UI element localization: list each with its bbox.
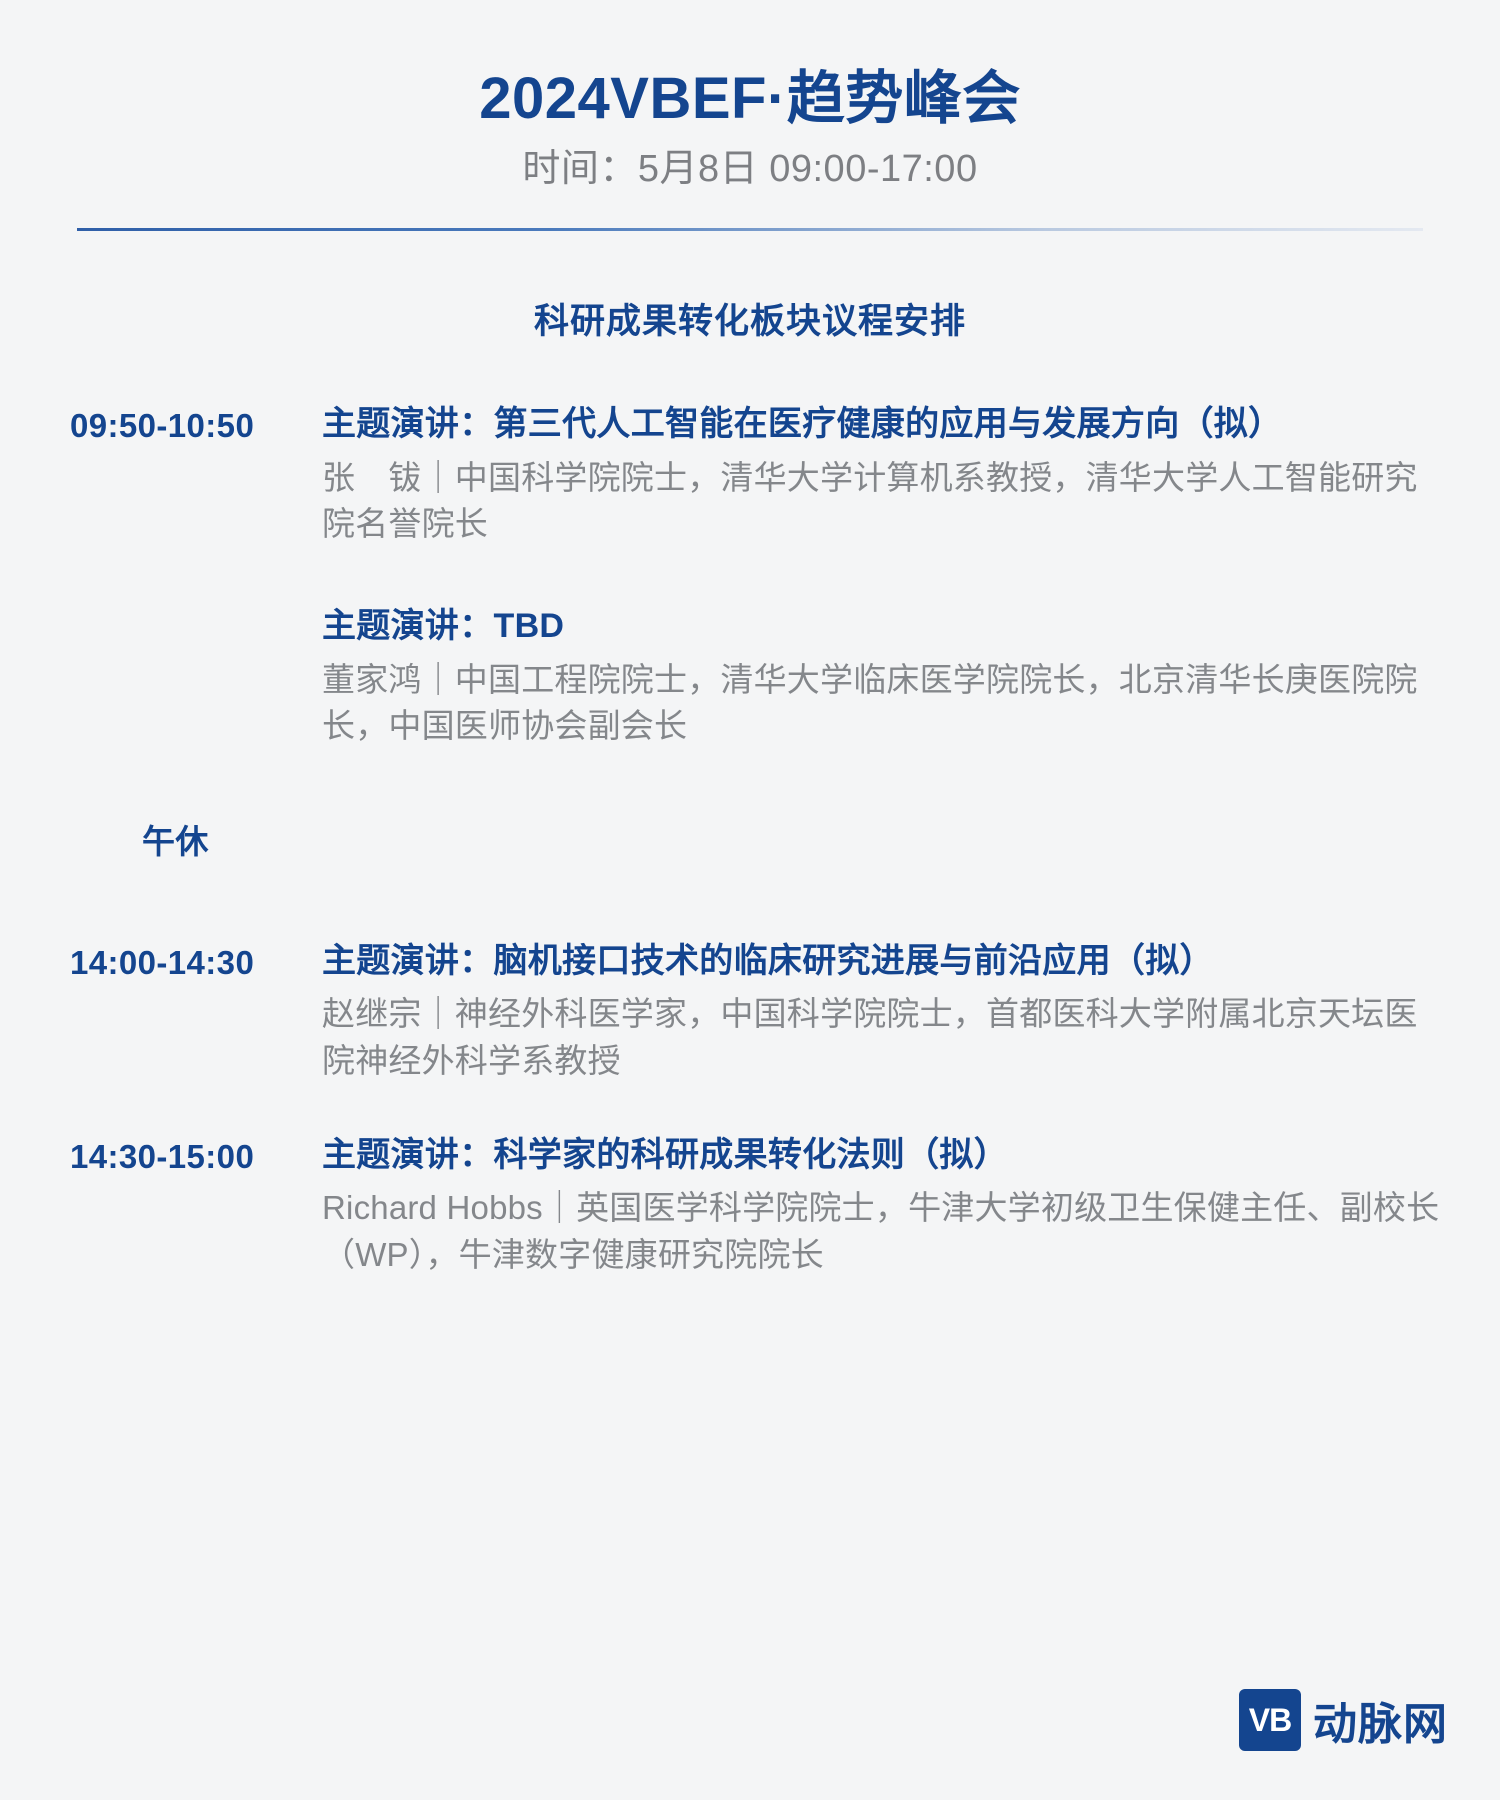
event-title: 2024VBEF·趋势峰会	[0, 66, 1500, 133]
vb-logo-icon: VB	[1239, 1689, 1301, 1751]
section-title: 科研成果转化板块议程安排	[0, 293, 1500, 344]
talk-item: 主题演讲：科学家的科研成果转化法则（拟） Richard Hobbs｜英国医学科…	[322, 1131, 1440, 1279]
agenda-time: 09:50-10:50	[70, 400, 322, 449]
talk-speaker: 赵继宗｜神经外科医学家，中国科学院院士，首都医科大学附属北京天坛医院神经外科学系…	[322, 991, 1440, 1085]
agenda-details: 主题演讲：第三代人工智能在医疗健康的应用与发展方向（拟） 张 钹｜中国科学院院士…	[322, 400, 1440, 750]
talk-item: 主题演讲：脑机接口技术的临床研究进展与前沿应用（拟） 赵继宗｜神经外科医学家，中…	[322, 937, 1440, 1085]
talk-title: 主题演讲：第三代人工智能在医疗健康的应用与发展方向（拟）	[322, 400, 1440, 448]
header-divider	[77, 228, 1423, 231]
talk-title: 主题演讲：TBD	[322, 602, 1440, 650]
brand-name: 动脉网	[1313, 1688, 1448, 1752]
agenda-row: 14:30-15:00 主题演讲：科学家的科研成果转化法则（拟） Richard…	[70, 1131, 1440, 1279]
talk-title: 主题演讲：科学家的科研成果转化法则（拟）	[322, 1131, 1440, 1179]
agenda-list: 09:50-10:50 主题演讲：第三代人工智能在医疗健康的应用与发展方向（拟）…	[0, 400, 1500, 1278]
agenda-row-break: 午休	[70, 816, 1440, 865]
talk-item: 主题演讲：第三代人工智能在医疗健康的应用与发展方向（拟） 张 钹｜中国科学院院士…	[322, 400, 1440, 548]
agenda-row: 14:00-14:30 主题演讲：脑机接口技术的临床研究进展与前沿应用（拟） 赵…	[70, 937, 1440, 1085]
talk-speaker: Richard Hobbs｜英国医学科学院院士，牛津大学初级卫生保健主任、副校长…	[322, 1185, 1440, 1279]
agenda-time: 14:30-15:00	[70, 1131, 322, 1180]
talk-title: 主题演讲：脑机接口技术的临床研究进展与前沿应用（拟）	[322, 937, 1440, 985]
agenda-details: 主题演讲：脑机接口技术的临床研究进展与前沿应用（拟） 赵继宗｜神经外科医学家，中…	[322, 937, 1440, 1085]
agenda-break-label: 午休	[70, 816, 394, 865]
brand-logo: VB 动脉网	[1239, 1688, 1448, 1752]
event-time: 时间：5月8日 09:00-17:00	[0, 147, 1500, 193]
agenda-time: 14:00-14:30	[70, 937, 322, 986]
poster-header: 2024VBEF·趋势峰会 时间：5月8日 09:00-17:00	[0, 0, 1500, 192]
agenda-poster: 2024VBEF·趋势峰会 时间：5月8日 09:00-17:00 科研成果转化…	[0, 0, 1500, 1800]
talk-speaker: 张 钹｜中国科学院院士，清华大学计算机系教授，清华大学人工智能研究院名誉院长	[322, 455, 1440, 549]
agenda-row: 09:50-10:50 主题演讲：第三代人工智能在医疗健康的应用与发展方向（拟）…	[70, 400, 1440, 750]
talk-speaker: 董家鸿｜中国工程院院士，清华大学临床医学院院长，北京清华长庚医院院长，中国医师协…	[322, 657, 1440, 751]
agenda-details: 主题演讲：科学家的科研成果转化法则（拟） Richard Hobbs｜英国医学科…	[322, 1131, 1440, 1279]
talk-item: 主题演讲：TBD 董家鸿｜中国工程院院士，清华大学临床医学院院长，北京清华长庚医…	[322, 602, 1440, 750]
